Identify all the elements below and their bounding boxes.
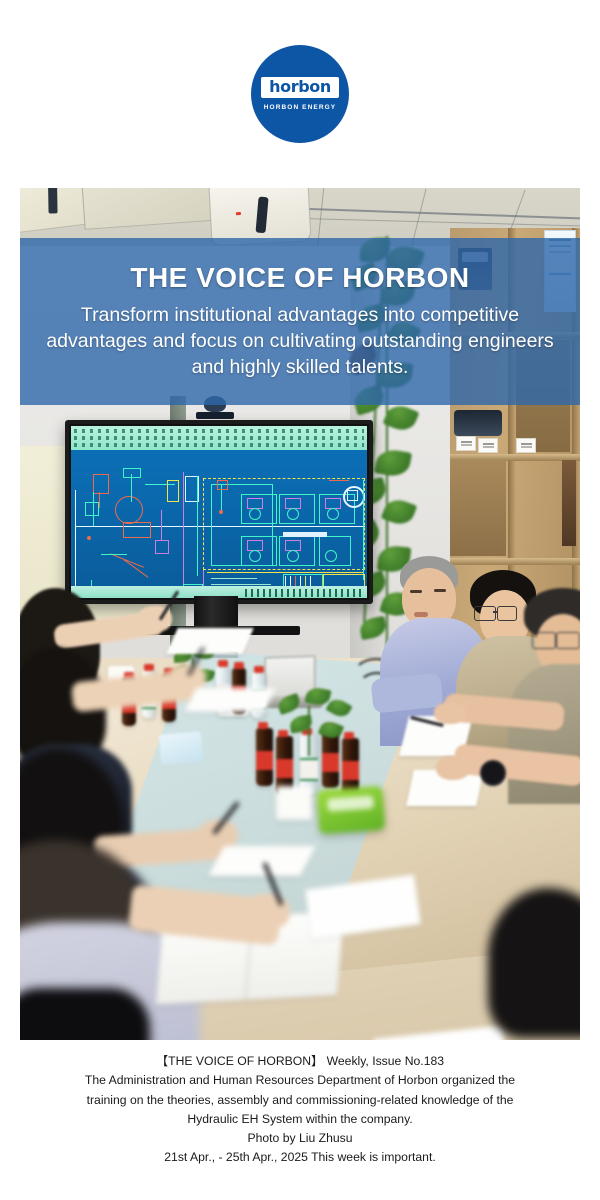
notebook <box>208 846 316 876</box>
shelf-display-card <box>478 438 498 453</box>
foreground-notebook-group <box>130 876 430 1016</box>
caption-block: 【THE VOICE OF HORBON】 Weekly, Issue No.1… <box>0 1052 600 1168</box>
caption-line-6: 21st Apr., - 25th Apr., 2025 This week i… <box>26 1148 574 1167</box>
cad-canvas <box>71 450 367 586</box>
hydraulic-schematic-cad-drawing <box>71 426 367 598</box>
eyeglasses <box>532 632 556 649</box>
hand <box>436 756 470 780</box>
cad-toolbar <box>71 426 367 450</box>
paper-sheet <box>305 875 421 940</box>
training-meeting-photo: THE VOICE OF HORBON Transform institutio… <box>20 188 580 1040</box>
logo-tagline: HORBON ENERGY <box>264 105 336 112</box>
shelf-display-card <box>516 438 536 453</box>
ac-status-led <box>236 212 241 215</box>
drink-bottle <box>256 728 273 786</box>
hand <box>242 894 290 930</box>
shelf-display-card <box>456 436 476 451</box>
banner-subtitle: Transform institutional advantages into … <box>20 303 580 381</box>
tissue-box-blue <box>159 731 203 765</box>
foreground-chair-left <box>20 988 150 1040</box>
person-foreground-right <box>488 888 580 1040</box>
eyeglasses <box>556 632 580 649</box>
caption-line-5: Photo by Liu Zhusu <box>26 1129 574 1148</box>
hair <box>488 888 580 1038</box>
caption-line-4: Hydraulic EH System within the company. <box>26 1110 574 1129</box>
logo-wordmark-text: horbon <box>269 79 331 95</box>
caption-line-1: 【THE VOICE OF HORBON】 Weekly, Issue No.1… <box>26 1052 574 1071</box>
caption-line-3: training on the theories, assembly and c… <box>26 1091 574 1110</box>
logo-wordmark-box: horbon <box>261 77 339 98</box>
horbon-logo: horbon HORBON ENERGY <box>251 45 349 143</box>
notebook <box>184 688 276 712</box>
caption-line-2: The Administration and Human Resources D… <box>26 1071 574 1090</box>
eyeglasses <box>474 606 496 621</box>
eyeglasses <box>497 606 517 621</box>
wristwatch <box>480 760 506 786</box>
presentation-display <box>65 420 373 604</box>
hand <box>434 702 466 724</box>
attendee-hands-left-2 <box>72 658 272 728</box>
shelf-device-box-2 <box>454 410 502 436</box>
table-plant-b <box>272 686 352 756</box>
header-logo-band: horbon HORBON ENERGY <box>0 0 600 188</box>
notebook <box>166 628 254 654</box>
green-tissue-box <box>317 786 386 834</box>
attendee-hands-right-2 <box>410 744 580 824</box>
banner-overlay: THE VOICE OF HORBON Transform institutio… <box>20 238 580 405</box>
banner-title: THE VOICE OF HORBON <box>130 262 469 294</box>
